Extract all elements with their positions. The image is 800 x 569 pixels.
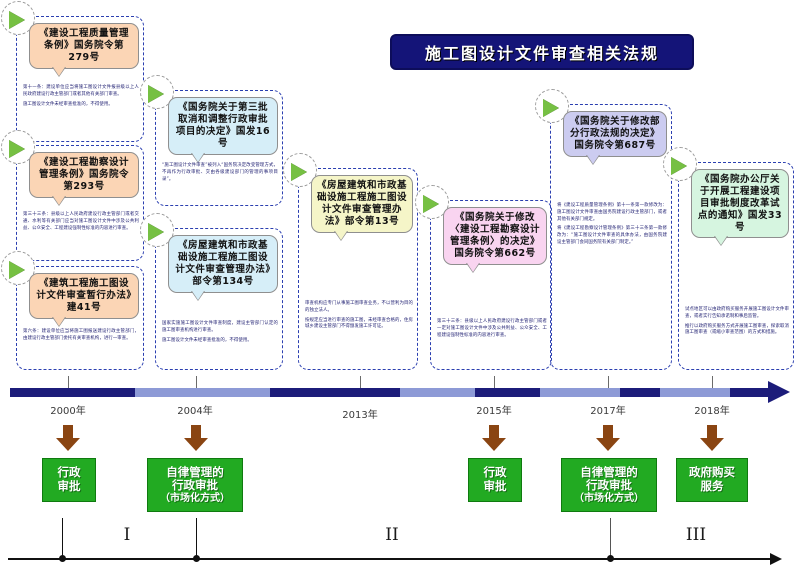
body-paragraph: “施工图设计文件审查”被列入“国务院决定改变管理方式，不再作为行政审批、交由各级… bbox=[162, 163, 278, 183]
regulation-item-buling13[interactable]: 《房屋建筑和市政基础设施工程施工图设计文件审查管理办法》部令第13号 审查机构应… bbox=[298, 168, 418, 370]
regulation-body: 将《建设工程质量管理条例》第十一条第一款修改为：施工图设计文件审查由国务院建设行… bbox=[557, 203, 667, 250]
outcome-sublabel: （市场化方式） bbox=[574, 493, 644, 505]
bubble-tail bbox=[191, 291, 205, 301]
body-paragraph: 第十一条：建设单位应当将施工图设计文件报县级以上人民政府建设行政主管部门或者其他… bbox=[23, 85, 139, 99]
arrow-shaft bbox=[191, 425, 201, 439]
regulation-body: “施工图设计文件审查”被列入“国务院决定改变管理方式，不再作为行政审批、交由各级… bbox=[162, 163, 278, 186]
diagram-canvas: 施工图设计文件审查相关法规 《建设工程质量管理条例》国务院令第279号 第十一条… bbox=[0, 0, 800, 569]
regulation-item-279[interactable]: 《建设工程质量管理条例》国务院令第279号 第十一条：建设单位应当将施工图设计文… bbox=[16, 16, 144, 142]
body-paragraph: 施工图设计文件未经审查批准的，不得使用。 bbox=[23, 102, 139, 109]
regulation-item-293[interactable]: 《建设工程勘察设计管理条例》国务院令第293号 第三十三条：县级以上人民政府建设… bbox=[16, 145, 144, 261]
year-label-2017: 2017年 bbox=[578, 402, 638, 417]
phase-divider bbox=[196, 518, 197, 560]
page-title: 施工图设计文件审查相关法规 bbox=[390, 34, 694, 70]
regulation-body: 第十一条：建设单位应当将施工图设计文件报县级以上人民政府建设行政主管部门或者其他… bbox=[23, 85, 139, 111]
body-paragraph: 按规定应当进行审查的施工图，未经审查合格的，住房城乡建设主管部门不得颁发施工许可… bbox=[305, 318, 413, 332]
outcome-line: 行政审批 bbox=[172, 479, 218, 493]
arrow-head bbox=[700, 438, 724, 451]
bubble-tail bbox=[52, 67, 66, 77]
arrow-shaft bbox=[489, 425, 499, 439]
regulation-title-bubble: 《房屋建筑和市政基础设施工程施工图设计文件审查管理办法》部令第13号 bbox=[311, 175, 413, 233]
regulation-title-bubble: 《建筑工程施工图设计文件审查暂行办法》建41号 bbox=[29, 273, 139, 319]
arrow-head bbox=[184, 438, 208, 451]
phase-node bbox=[193, 555, 200, 562]
green-triangle-icon bbox=[671, 157, 687, 175]
phase-label-3: III bbox=[676, 525, 716, 545]
arrow-shaft bbox=[603, 425, 613, 439]
down-arrow-2004 bbox=[184, 425, 208, 451]
outcome-line: 行政 bbox=[58, 466, 81, 480]
regulation-title: 《国务院办公厅关于开展工程建设项目审批制度改革试点的通知》国发33号 bbox=[698, 174, 782, 233]
regulation-body: 试点地区可以由政府购买服务开展施工图设计文件审查，或者实行告知承诺制和事后监管。… bbox=[685, 307, 789, 340]
outcome-box-2015[interactable]: 行政 审批 bbox=[468, 458, 522, 502]
body-paragraph: 第三十三条：县级以上人民政府建设行政主管部门或者交通、水利等有关部门应当对施工图… bbox=[23, 212, 139, 232]
outcome-box-2018[interactable]: 政府购买 服务 bbox=[676, 458, 748, 502]
outcome-box-2004[interactable]: 自律管理的 行政审批 （市场化方式） bbox=[147, 458, 243, 512]
body-paragraph: 第三十三条：县级以上人民政府建设行政主管部门或者一定对施工图设计文件中涉及公共利… bbox=[437, 319, 547, 339]
regulation-title-bubble: 《国务院关于修改〈建设工程勘察设计管理条例〉的决定》国务院令第662号 bbox=[443, 207, 547, 265]
outcome-line: 自律管理的 bbox=[580, 466, 638, 480]
body-paragraph: 第六条：建设单位应当将施工图报送建设行政主管部门，由建设行政主管部门委托有关审查… bbox=[23, 329, 139, 343]
body-paragraph: 国家实施施工图设计文件审查制度，建设主管部门认定的施工图审查机构进行审查。 bbox=[162, 321, 278, 335]
green-triangle-icon bbox=[148, 223, 164, 241]
phase-axis-line bbox=[8, 558, 772, 560]
timeline-bar bbox=[10, 388, 770, 397]
regulation-body: 审查机构应专门从事施工图审查业务，不以营利为目的的独立法人。 按规定应当进行审查… bbox=[305, 301, 413, 334]
arrow-head bbox=[596, 438, 620, 451]
regulation-item-buling134[interactable]: 《房屋建筑和市政基础设施工程施工图设计文件审查管理办法》部令第134号 国家实施… bbox=[155, 228, 283, 370]
phase-axis-arrow-icon bbox=[770, 553, 782, 565]
phase-node bbox=[59, 555, 66, 562]
body-paragraph: 审查机构应专门从事施工图审查业务，不以营利为目的的独立法人。 bbox=[305, 301, 413, 315]
year-label-2015: 2015年 bbox=[464, 402, 524, 417]
timeline-segment bbox=[135, 388, 270, 397]
regulation-body: 第三十三条：县级以上人民政府建设行政主管部门或者交通、水利等有关部门应当对施工图… bbox=[23, 212, 139, 235]
outcome-line: 自律管理的 bbox=[166, 466, 224, 480]
green-triangle-icon bbox=[9, 140, 25, 158]
outcome-line: 行政审批 bbox=[586, 479, 632, 493]
bubble-tail bbox=[191, 153, 205, 163]
phase-label-1: I bbox=[107, 525, 147, 545]
regulation-body: 第三十三条：县级以上人民政府建设行政主管部门或者一定对施工图设计文件中涉及公共利… bbox=[437, 319, 547, 342]
regulation-item-guofa16[interactable]: 《国务院关于第三批取消和调整行政审批项目的决定》国发16号 “施工图设计文件审查… bbox=[155, 90, 283, 206]
down-arrow-2018 bbox=[700, 425, 724, 451]
phase-divider bbox=[62, 518, 63, 560]
regulation-title-bubble: 《房屋建筑和市政基础设施工程施工图设计文件审查管理办法》部令第134号 bbox=[168, 235, 278, 293]
green-triangle-icon bbox=[9, 261, 25, 279]
regulation-title-bubble: 《建设工程勘察设计管理条例》国务院令第293号 bbox=[29, 152, 139, 198]
regulation-title-bubble: 《国务院办公厅关于开展工程建设项目审批制度改革试点的通知》国发33号 bbox=[691, 169, 789, 238]
outcome-box-2000[interactable]: 行政 审批 bbox=[42, 458, 96, 502]
arrow-head bbox=[482, 438, 506, 451]
year-label-2013: 2013年 bbox=[330, 406, 390, 421]
regulation-item-guowuyuan662[interactable]: 《国务院关于修改〈建设工程勘察设计管理条例〉的决定》国务院令第662号 第三十三… bbox=[430, 200, 552, 370]
regulation-title-bubble: 《建设工程质量管理条例》国务院令第279号 bbox=[29, 23, 139, 69]
bubble-tail bbox=[52, 196, 66, 206]
regulation-item-guowuyuan687[interactable]: 《国务院关于修改部分行政法规的决定》国务院令第687号 将《建设工程质量管理条例… bbox=[550, 104, 672, 370]
down-arrow-2000 bbox=[56, 425, 80, 451]
regulation-body: 国家实施施工图设计文件审查制度，建设主管部门认定的施工图审查机构进行审查。 施工… bbox=[162, 321, 278, 347]
outcome-line: 审批 bbox=[484, 480, 507, 494]
regulation-title: 《国务院关于修改〈建设工程勘察设计管理条例〉的决定》国务院令第662号 bbox=[450, 212, 540, 259]
timeline-segment bbox=[540, 388, 620, 397]
regulation-title: 《建筑工程施工图设计文件审查暂行办法》建41号 bbox=[36, 278, 131, 313]
body-paragraph: 将《建设工程质量管理条例》第十一条第一款修改为：施工图设计文件审查由国务院建设行… bbox=[557, 203, 667, 223]
timeline-segment bbox=[660, 388, 730, 397]
bubble-tail bbox=[714, 236, 728, 246]
regulation-title-bubble: 《国务院关于修改部分行政法规的决定》国务院令第687号 bbox=[563, 111, 667, 157]
regulation-title: 《国务院关于修改部分行政法规的决定》国务院令第687号 bbox=[570, 116, 660, 151]
phase-divider bbox=[610, 518, 611, 560]
bubble-tail bbox=[52, 317, 66, 327]
green-triangle-icon bbox=[543, 99, 559, 117]
year-label-2000: 2000年 bbox=[38, 402, 98, 417]
green-triangle-icon bbox=[423, 195, 439, 213]
down-arrow-2015 bbox=[482, 425, 506, 451]
year-label-2004: 2004年 bbox=[165, 402, 225, 417]
outcome-box-2017[interactable]: 自律管理的 行政审批 （市场化方式） bbox=[561, 458, 657, 512]
down-arrow-2017 bbox=[596, 425, 620, 451]
phase-label-2: II bbox=[372, 525, 412, 545]
regulation-title: 《建设工程勘察设计管理条例》国务院令第293号 bbox=[39, 157, 129, 192]
regulation-item-guofa33[interactable]: 《国务院办公厅关于开展工程建设项目审批制度改革试点的通知》国发33号 试点地区可… bbox=[678, 162, 794, 370]
bubble-tail bbox=[466, 263, 480, 273]
body-paragraph: 试点地区可以由政府购买服务开展施工图设计文件审查，或者实行告知承诺制和事后监管。 bbox=[685, 307, 789, 321]
timeline-segment bbox=[400, 388, 475, 397]
body-paragraph: 推行以政府购买服务方式开展施工图审查，探索取消施工图审查（或缩小审查范围）的方式… bbox=[685, 324, 789, 338]
outcome-line: 服务 bbox=[701, 480, 724, 494]
timeline-arrow-icon bbox=[768, 381, 790, 403]
bubble-tail bbox=[334, 231, 348, 241]
phase-node bbox=[607, 555, 614, 562]
outcome-sublabel: （市场化方式） bbox=[160, 493, 230, 505]
outcome-line: 政府购买 bbox=[689, 466, 735, 480]
arrow-shaft bbox=[63, 425, 73, 439]
regulation-title: 《国务院关于第三批取消和调整行政审批项目的决定》国发16号 bbox=[176, 102, 270, 149]
regulation-title-bubble: 《国务院关于第三批取消和调整行政审批项目的决定》国发16号 bbox=[168, 97, 278, 155]
outcome-line: 审批 bbox=[58, 480, 81, 494]
body-paragraph: 将《建设工程勘察设计管理条例》第三十三条第一款修改为：“施工图设计文件审查的具体… bbox=[557, 226, 667, 246]
regulation-item-jian41[interactable]: 《建筑工程施工图设计文件审查暂行办法》建41号 第六条：建设单位应当将施工图报送… bbox=[16, 266, 144, 370]
regulation-title: 《房屋建筑和市政基础设施工程施工图设计文件审查管理办法》部令第134号 bbox=[175, 240, 270, 287]
regulation-title: 《建设工程质量管理条例》国务院令第279号 bbox=[39, 28, 129, 63]
green-triangle-icon bbox=[291, 163, 307, 181]
arrow-head bbox=[56, 438, 80, 451]
outcome-line: 行政 bbox=[484, 466, 507, 480]
body-paragraph: 施工图设计文件未经审查批准的，不得使用。 bbox=[162, 338, 278, 345]
regulation-title: 《房屋建筑和市政基础设施工程施工图设计文件审查管理办法》部令第13号 bbox=[317, 180, 407, 227]
year-label-2018: 2018年 bbox=[682, 402, 742, 417]
regulation-body: 第六条：建设单位应当将施工图报送建设行政主管部门，由建设行政主管部门委托有关审查… bbox=[23, 329, 139, 346]
green-triangle-icon bbox=[148, 85, 164, 103]
green-triangle-icon bbox=[9, 11, 25, 29]
bubble-tail bbox=[586, 155, 600, 165]
arrow-shaft bbox=[707, 425, 717, 439]
